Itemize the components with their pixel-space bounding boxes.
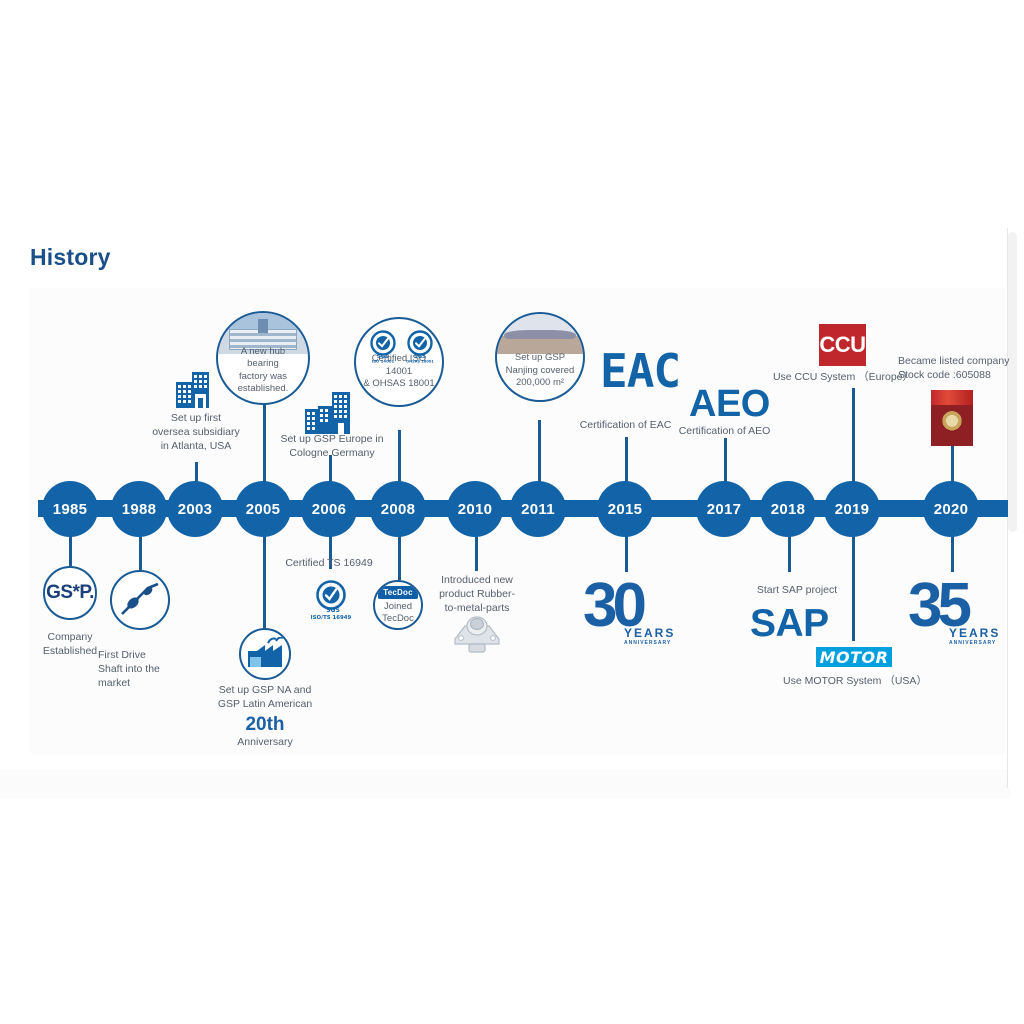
caption-2003: Set up first oversea subsidiary in Atlan…: [135, 411, 257, 454]
bubble-2005-text: A new hub bearing factory was establishe…: [218, 346, 308, 403]
caption-ts16949: Certified TS 16949: [281, 556, 377, 570]
caption-1988: First Drive Shaft into the market: [98, 648, 193, 691]
infographic-canvas: History 1985 1988 2003 2005 2006 2008 20…: [0, 0, 1024, 1024]
year-node-2015[interactable]: 2015: [597, 481, 653, 537]
bubble-2005-factory[interactable]: A new hub bearing factory was establishe…: [216, 311, 310, 405]
year-node-2018[interactable]: 2018: [760, 481, 816, 537]
caption-2019-motor: Use MOTOR System （USA）: [782, 674, 928, 688]
stem-2019-down: [852, 528, 855, 641]
caption-2015-eac: Certification of EAC: [573, 418, 678, 432]
year-node-2017[interactable]: 2017: [696, 481, 752, 537]
bubble-1988-driveshaft[interactable]: [110, 570, 170, 630]
stem-2005-down: [263, 528, 266, 628]
aeo-wordmark: AEO: [689, 383, 770, 426]
sgs-ohsas18001-seal-icon: SGS OHSAS 18001: [403, 329, 437, 363]
vertical-scrollbar-track[interactable]: [1007, 228, 1017, 788]
drive-shaft-icon: [112, 572, 168, 628]
anniversary-35-sub: ANNIVERSARY: [949, 640, 1000, 646]
anniversary-20th-number: 20th: [205, 714, 325, 736]
year-node-1985[interactable]: 1985: [42, 481, 98, 537]
year-node-2005[interactable]: 2005: [235, 481, 291, 537]
anniversary-30-years: YEARS: [624, 626, 675, 640]
caption-2005-bottom: Set up GSP NA and GSP Latin American: [205, 683, 325, 711]
bubble-2008-certifications[interactable]: SGS ISO 14001 SGS OHSAS 18001 Certified …: [354, 317, 444, 407]
anniversary-20th: 20th Anniversary: [205, 714, 325, 748]
listing-gong-photo: [931, 390, 973, 446]
svg-text:ISO 14001: ISO 14001: [372, 358, 395, 363]
factory-icon: [244, 637, 286, 671]
caption-2018-sap: Start SAP project: [742, 583, 852, 597]
eac-wordmark: EAC: [600, 344, 680, 398]
office-buildings-icon: [172, 368, 216, 412]
lower-panel-strip: [0, 770, 1010, 798]
year-node-2020[interactable]: 2020: [923, 481, 979, 537]
caption-2019-ccu: Use CCU System （Europe）: [771, 370, 915, 384]
anniversary-35-years: YEARS: [949, 626, 1000, 640]
tecdoc-chip: TecDoc: [378, 586, 418, 599]
bubble-2005-plant[interactable]: [239, 628, 291, 680]
anniversary-20th-label: Anniversary: [205, 736, 325, 748]
svg-text:OHSAS 18001: OHSAS 18001: [406, 359, 434, 363]
bubble-2008-tecdoc[interactable]: TecDoc Joined TecDoc: [373, 580, 423, 630]
rubber-metal-part-icon: [451, 613, 503, 659]
city-buildings-icon: [303, 390, 355, 438]
bubble-1985-gsp-logo[interactable]: GS*P.: [43, 566, 97, 620]
year-node-2006[interactable]: 2006: [301, 481, 357, 537]
svg-text:SGS: SGS: [326, 607, 340, 614]
year-node-1988[interactable]: 1988: [111, 481, 167, 537]
ccu-logo: CCU: [819, 324, 866, 366]
motor-logo: MOTOR: [814, 645, 894, 669]
sap-wordmark: SAP: [750, 602, 829, 646]
year-node-2008[interactable]: 2008: [370, 481, 426, 537]
year-node-2003[interactable]: 2003: [167, 481, 223, 537]
svg-text:ISO/TS 16949: ISO/TS 16949: [311, 615, 352, 620]
page-title: History: [30, 244, 111, 271]
year-node-2011[interactable]: 2011: [510, 481, 566, 537]
year-node-2019[interactable]: 2019: [824, 481, 880, 537]
anniversary-35: 35 YEARS ANNIVERSARY: [908, 578, 967, 634]
gsp-logo-text: GS*P.: [46, 582, 94, 604]
anniversary-30: 30 YEARS ANNIVERSARY: [583, 578, 642, 634]
anniversary-30-sub: ANNIVERSARY: [624, 640, 675, 646]
caption-2010: Introduced new product Rubber- to-metal-…: [432, 573, 522, 616]
sgs-ts16949-seal-icon: SGS ISO/TS 16949: [310, 578, 352, 620]
bubble-2011-nanjing[interactable]: Set up GSP Nanjing covered 200,000 m²: [495, 312, 585, 402]
caption-2006: Set up GSP Europe in Cologne Germany: [268, 432, 396, 460]
caption-2017-aeo: Certification of AEO: [672, 424, 777, 438]
caption-2020-listed: Became listed company Stock code :605088: [898, 354, 1024, 382]
bubble-2008-tecdoc-text: Joined TecDoc: [382, 601, 414, 624]
year-node-2010[interactable]: 2010: [447, 481, 503, 537]
sgs-iso14001-seal-icon: SGS ISO 14001: [366, 329, 400, 363]
nanjing-plant-photo: [497, 314, 583, 354]
bubble-2011-text: Set up GSP Nanjing covered 200,000 m²: [500, 352, 581, 400]
